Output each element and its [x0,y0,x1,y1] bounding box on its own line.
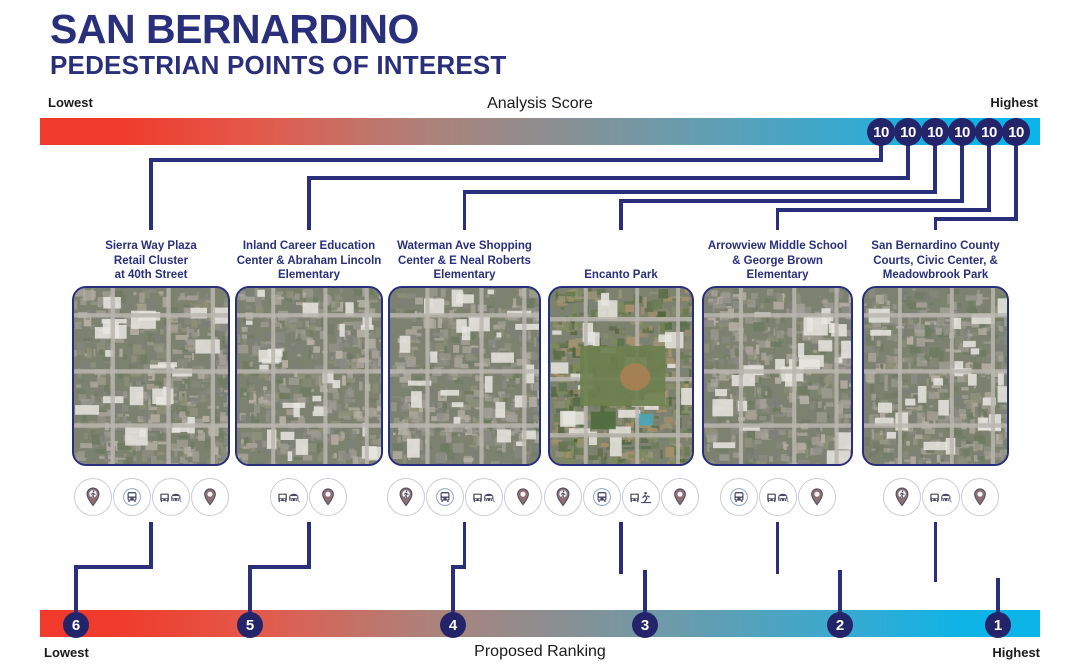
poi-card-label: Inland Career EducationCenter & Abraham … [235,239,383,286]
infographic-root: SAN BERNARDINO PEDESTRIAN POINTS OF INTE… [0,0,1080,667]
transit-bus-icon[interactable] [583,478,621,516]
amenity-icon-row [72,478,230,516]
proposed-rank-badge[interactable]: 2 [827,612,853,638]
connector-segment [307,176,908,180]
aerial-map-image[interactable] [862,286,1009,466]
map-pin-icon[interactable] [961,478,999,516]
transit-bus-icon[interactable] [720,478,758,516]
connector-segment [307,176,311,230]
bus-stop-icon[interactable] [922,478,960,516]
analysis-score-badge[interactable]: 10 [948,118,976,146]
poi-card[interactable]: Waterman Ave ShoppingCenter & E Neal Rob… [388,286,541,466]
map-pin-icon[interactable] [661,478,699,516]
connector-segment [619,522,623,574]
analysis-score-badge[interactable]: 10 [975,118,1003,146]
connector-segment [776,208,989,212]
top-scale-caption: Analysis Score [0,95,1080,113]
connector-segment [619,199,623,230]
bus-stop-icon[interactable] [152,478,190,516]
pin-walk-icon[interactable] [544,478,582,516]
connector-segment [619,199,962,203]
map-pin-icon[interactable] [309,478,347,516]
connector-segment [987,140,991,212]
connector-segment [463,190,935,194]
bus-stop-icon[interactable] [465,478,503,516]
proposed-rank-badge[interactable]: 4 [440,612,466,638]
proposed-rank-badge[interactable]: 3 [632,612,658,638]
transit-bus-icon[interactable] [426,478,464,516]
poi-card-label: Encanto Park [548,268,694,286]
aerial-map-image[interactable] [72,286,230,466]
connector-segment [1014,140,1018,221]
poi-card[interactable]: Encanto Park [548,286,694,466]
connector-segment [149,158,153,230]
poi-card[interactable]: Arrowview Middle School& George Brown El… [702,286,853,466]
poi-card[interactable]: Inland Career EducationCenter & Abraham … [235,286,383,466]
poi-card[interactable]: San Bernardino CountyCourts, Civic Cente… [862,286,1009,466]
analysis-score-badge[interactable]: 10 [921,118,949,146]
analysis-score-badge[interactable]: 10 [1002,118,1030,146]
connector-segment [463,522,467,569]
pin-walk-icon[interactable] [883,478,921,516]
page-subtitle: PEDESTRIAN POINTS OF INTEREST [50,52,507,79]
poi-card-label: Waterman Ave ShoppingCenter & E Neal Rob… [388,239,541,286]
proposed-ranking-gradient-bar [40,610,1040,637]
proposed-rank-badge[interactable]: 5 [237,612,263,638]
transit-bus-icon[interactable] [113,478,151,516]
amenity-icon-row [876,478,1006,516]
connector-segment [960,140,964,203]
amenity-icon-row [243,478,373,516]
connector-segment [934,522,938,582]
connector-segment [74,565,153,569]
map-pin-icon[interactable] [191,478,229,516]
poi-card-label: San Bernardino CountyCourts, Civic Cente… [862,239,1009,286]
aerial-map-image[interactable] [388,286,541,466]
connector-segment [934,217,1016,221]
aerial-map-image[interactable] [235,286,383,466]
pin-walk-icon[interactable] [387,478,425,516]
bus-stop-icon[interactable] [759,478,797,516]
bottom-scale-caption: Proposed Ranking [0,643,1080,661]
connector-segment [248,565,311,569]
poi-card-label: Sierra Way PlazaRetail Clusterat 40th St… [72,239,230,286]
analysis-score-badge[interactable]: 10 [894,118,922,146]
connector-segment [307,522,311,569]
page-title: SAN BERNARDINO [50,8,419,51]
pin-walk-icon[interactable] [74,478,112,516]
aerial-map-image[interactable] [548,286,694,466]
map-pin-icon[interactable] [504,478,542,516]
amenity-icon-row [712,478,843,516]
amenity-icon-row [546,478,696,516]
connector-segment [463,190,467,230]
proposed-rank-badge[interactable]: 1 [985,612,1011,638]
amenity-icon-row [388,478,541,516]
map-pin-icon[interactable] [798,478,836,516]
playground-icon[interactable] [622,478,660,516]
connector-segment [776,522,780,574]
connector-segment [149,158,881,162]
analysis-score-badge[interactable]: 10 [867,118,895,146]
connector-segment [933,140,937,194]
proposed-rank-badge[interactable]: 6 [63,612,89,638]
bus-stop-icon[interactable] [270,478,308,516]
poi-card[interactable]: Sierra Way PlazaRetail Clusterat 40th St… [72,286,230,466]
aerial-map-image[interactable] [702,286,853,466]
connector-segment [149,522,153,569]
poi-card-label: Arrowview Middle School& George Brown El… [702,239,853,286]
